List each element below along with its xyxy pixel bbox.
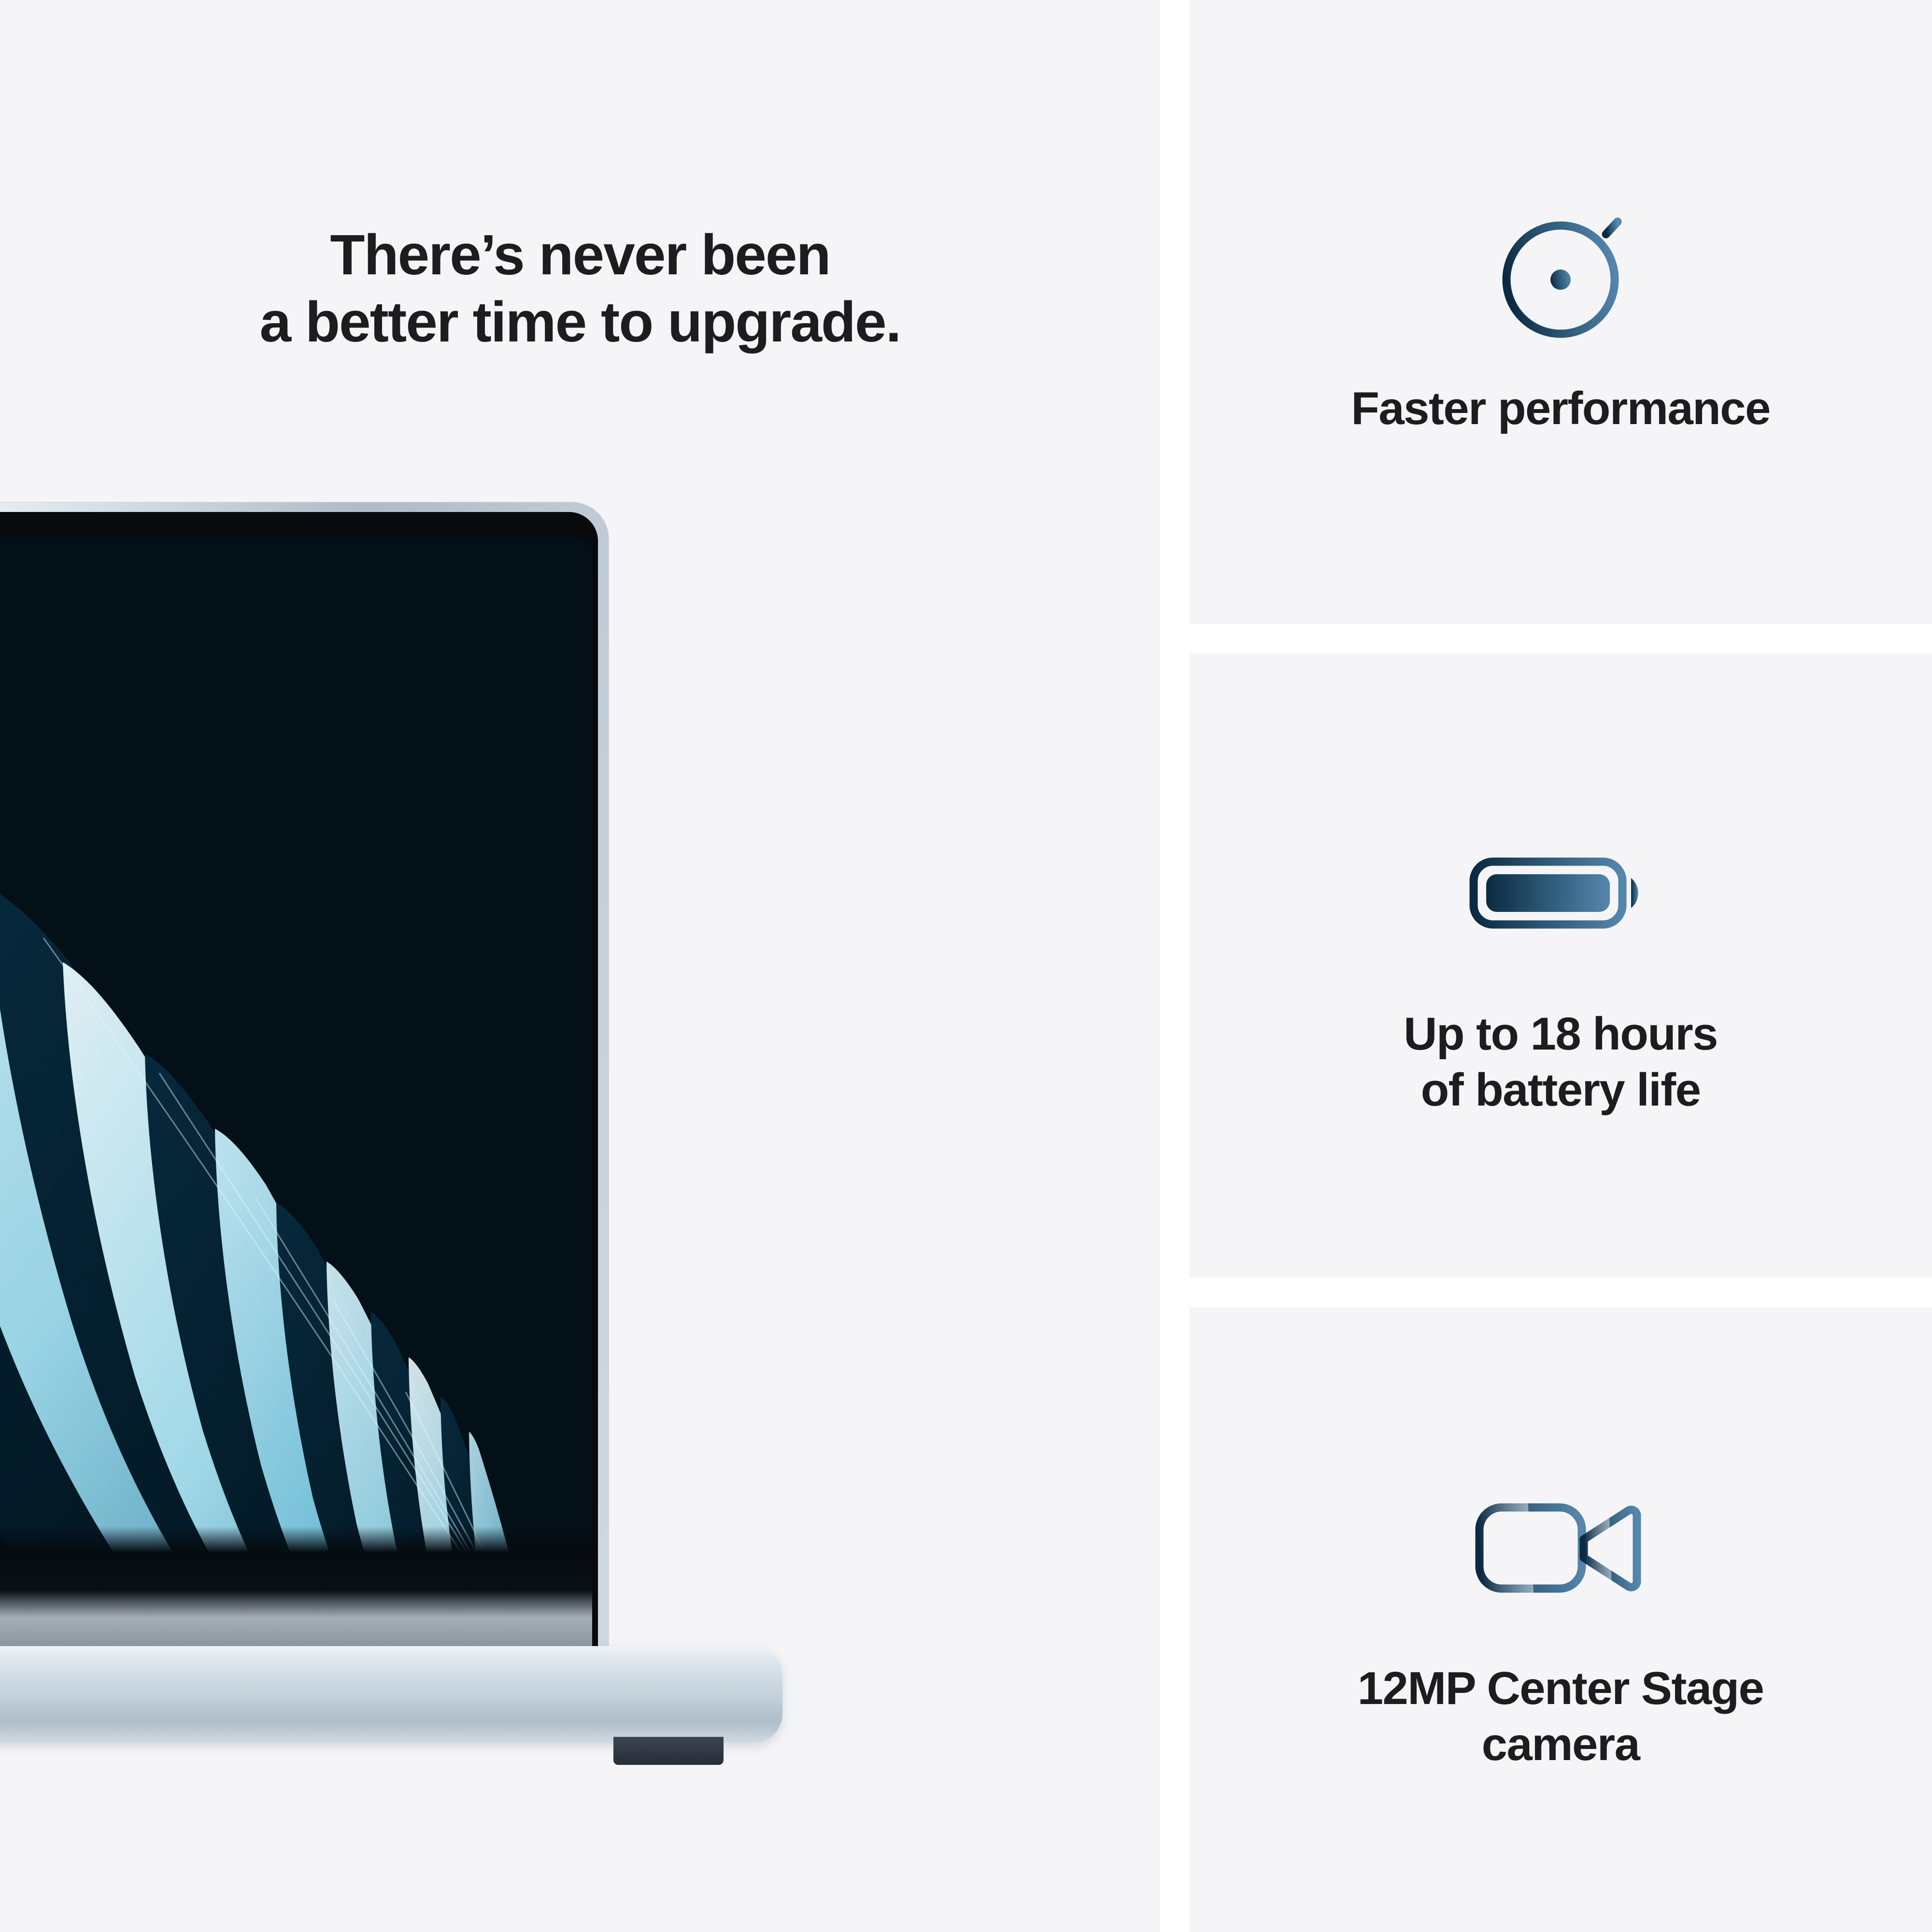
laptop-screen [0,537,592,1671]
promo-layout: There’s never been a better time to upgr… [0,0,1932,1932]
laptop-port [613,1737,724,1765]
feature-label-battery: Up to 18 hours of battery life [1404,1006,1718,1117]
battery-full-icon [1459,813,1662,972]
desktop-wallpaper [0,537,592,1671]
feature-label-line-2: camera [1358,1717,1764,1772]
feature-card-battery: Up to 18 hours of battery life [1189,653,1932,1278]
feature-label-performance: Faster performance [1351,381,1770,436]
stopwatch-icon [1459,187,1662,347]
feature-label-line-2: of battery life [1404,1062,1718,1118]
page-title: There’s never been a better time to upgr… [0,222,1160,356]
feature-label-line-1: 12MP Center Stage [1358,1661,1764,1716]
feature-label-camera: 12MP Center Stage camera [1358,1661,1764,1772]
feature-card-performance: Faster performance [1189,0,1932,624]
hero-panel: There’s never been a better time to upgr… [0,0,1160,1932]
feature-label-line-1: Up to 18 hours [1404,1006,1718,1062]
headline-line-1: There’s never been [0,222,1160,289]
video-camera-icon [1459,1467,1662,1627]
macbook-product-image [0,502,927,1739]
display-bezel [0,512,598,1662]
feature-card-camera: 12MP Center Stage camera [1189,1307,1932,1932]
feature-card-column: Faster performance [1189,0,1932,1932]
feature-label-line-1: Faster performance [1351,381,1770,436]
laptop-lid [0,502,609,1662]
laptop-base [0,1646,782,1743]
headline-line-2: a better time to upgrade. [0,289,1160,356]
